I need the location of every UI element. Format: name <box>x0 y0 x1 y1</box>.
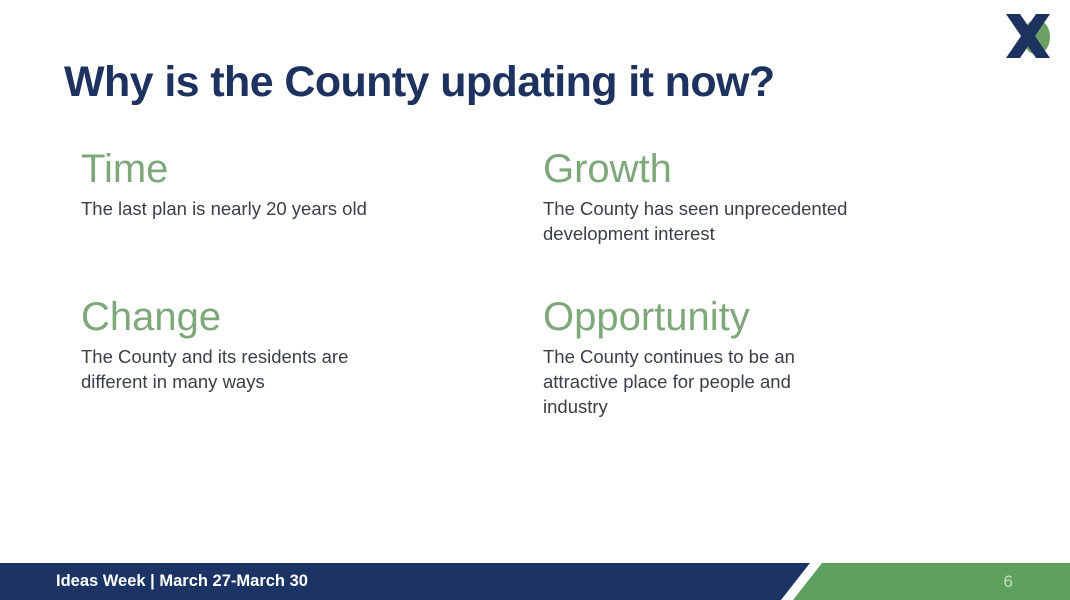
reason-body-line: different in many ways <box>81 370 348 395</box>
slide: Why is the County updating it now? Time … <box>0 0 1070 600</box>
page-title: Why is the County updating it now? <box>64 58 775 107</box>
reason-body-line: development interest <box>543 222 847 247</box>
reason-block-time: Time The last plan is nearly 20 years ol… <box>81 148 367 222</box>
reason-heading: Growth <box>543 148 847 190</box>
reason-body: The County has seen unprecedented develo… <box>543 197 847 246</box>
footer-bar: Ideas Week | March 27-March 30 6 <box>0 563 1070 600</box>
reason-body-line: attractive place for people and <box>543 370 795 395</box>
reason-body: The County and its residents are differe… <box>81 345 348 394</box>
reason-heading: Time <box>81 148 367 190</box>
reason-body-line: The County continues to be an <box>543 345 795 370</box>
x-mark-logo <box>1000 8 1058 64</box>
reason-heading: Change <box>81 296 348 338</box>
reason-body-line: industry <box>543 395 795 420</box>
reason-block-change: Change The County and its residents are … <box>81 296 348 395</box>
reason-body: The County continues to be an attractive… <box>543 345 795 419</box>
reason-body-line: The County has seen unprecedented <box>543 197 847 222</box>
reason-body-line: The last plan is nearly 20 years old <box>81 197 367 222</box>
page-number: 6 <box>1004 563 1013 600</box>
footer-event-label: Ideas Week | March 27-March 30 <box>56 563 308 600</box>
reason-block-growth: Growth The County has seen unprecedented… <box>543 148 847 247</box>
reason-body-line: The County and its residents are <box>81 345 348 370</box>
reason-block-opportunity: Opportunity The County continues to be a… <box>543 296 795 419</box>
reason-body: The last plan is nearly 20 years old <box>81 197 367 222</box>
reason-heading: Opportunity <box>543 296 795 338</box>
